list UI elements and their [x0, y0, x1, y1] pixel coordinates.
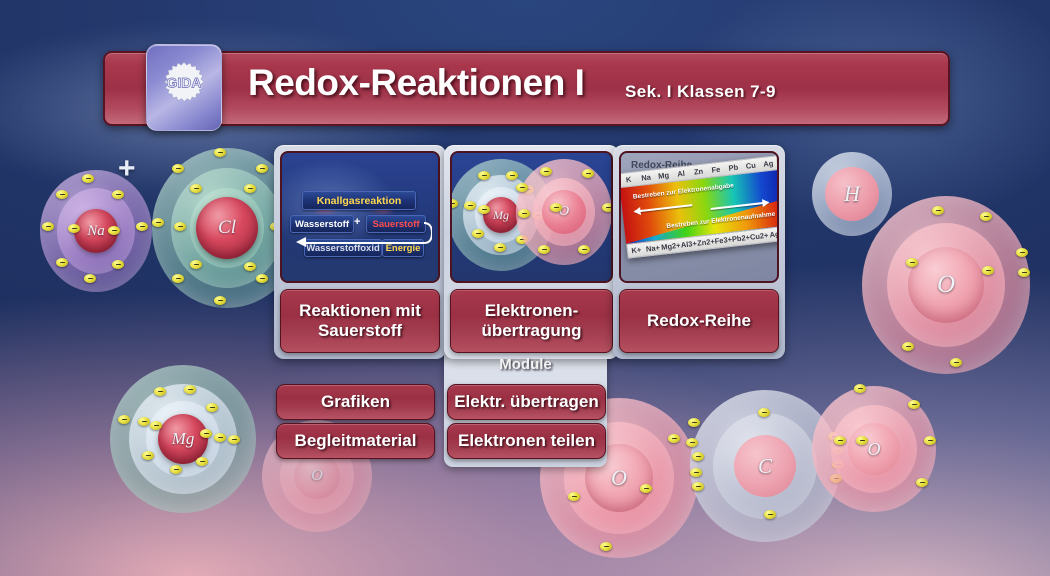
- background-atom-mg: Mg: [110, 365, 256, 513]
- gear-icon: GIDA: [155, 59, 213, 117]
- elektr-uebertragen-button[interactable]: Elektr. übertragen: [447, 384, 606, 420]
- nucleus-label-o-big: O: [908, 247, 984, 323]
- thumbnail-knallgasreaktion: Knallgasreaktion Wasserstoff + Sauerstof…: [280, 151, 440, 283]
- thumb-nucleus-o: O: [542, 190, 586, 234]
- nucleus-label-c: C: [734, 435, 796, 497]
- gida-logo: GIDA: [146, 44, 222, 131]
- panel-label-line1: Reaktionen mit: [299, 301, 421, 321]
- kg-arrow-icon: [288, 211, 432, 261]
- page-title: Redox-Reaktionen I: [248, 62, 584, 104]
- svg-text:GIDA: GIDA: [167, 74, 202, 90]
- panel-reaktionen-mit-sauerstoff[interactable]: Knallgasreaktion Wasserstoff + Sauerstof…: [274, 145, 446, 359]
- panel-elektronenuebertragung[interactable]: Mg: [444, 145, 619, 359]
- nucleus-label-h: H: [825, 167, 879, 221]
- grafiken-button[interactable]: Grafiken: [276, 384, 435, 420]
- panel-label-line2: Sauerstoff: [299, 321, 421, 341]
- module-section-title: Module: [444, 356, 607, 373]
- elektronen-teilen-button[interactable]: Elektronen teilen: [447, 423, 606, 459]
- rr-plate: KNaMgAlZnFePbCuAg Bestreben zur Elektron…: [619, 155, 779, 259]
- kg-title: Knallgasreaktion: [302, 191, 416, 210]
- panel-label-line2: übertragung: [481, 321, 581, 341]
- thumbnail-redox-reihe: Redox-Reihe KNaMgAlZnFePbCuAg Bestreben …: [619, 151, 779, 283]
- nucleus-label-cl: Cl: [196, 197, 258, 259]
- background-atom-na: Na: [40, 170, 152, 292]
- background-atom-o-right: O: [812, 386, 936, 512]
- app-root: Na + Cl: [0, 0, 1050, 576]
- thumb-nucleus-mg: Mg: [483, 197, 519, 233]
- page-subtitle: Sek. I Klassen 7-9: [625, 82, 776, 102]
- thumbnail-elektronenuebertragung: Mg: [450, 151, 613, 283]
- background-atom-h: H: [812, 152, 892, 236]
- panel-label-line1: Elektronen-: [481, 301, 581, 321]
- nucleus-label-o-right: O: [848, 423, 900, 475]
- panel-redox-reihe[interactable]: Redox-Reihe KNaMgAlZnFePbCuAg Bestreben …: [613, 145, 785, 359]
- panel-label-reaktionen[interactable]: Reaktionen mit Sauerstoff: [280, 289, 440, 353]
- panel-label-line1: Redox-Reihe: [647, 311, 751, 331]
- plus-sign-icon: +: [118, 152, 136, 186]
- begleitmaterial-button[interactable]: Begleitmaterial: [276, 423, 435, 459]
- panel-label-redox-reihe[interactable]: Redox-Reihe: [619, 289, 779, 353]
- panel-label-elektronenuebertragung[interactable]: Elektronen- übertragung: [450, 289, 613, 353]
